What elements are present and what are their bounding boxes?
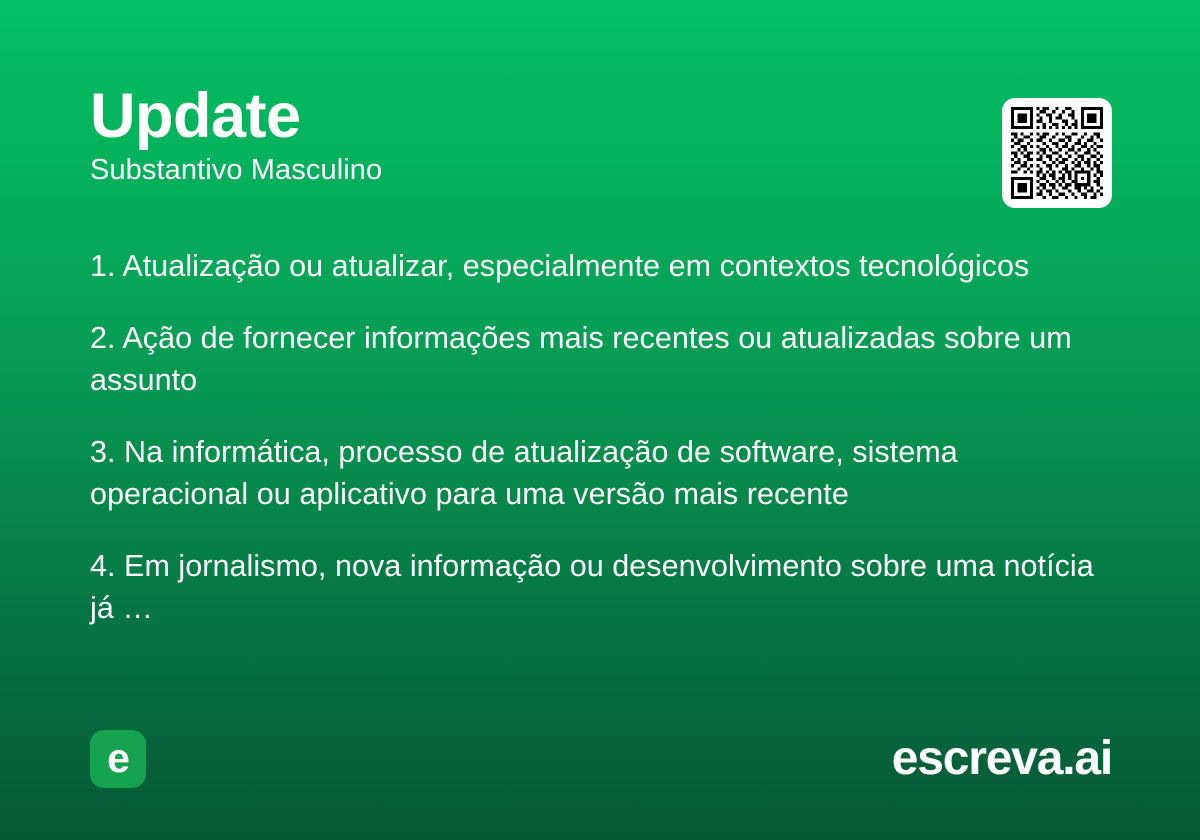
brand-wordmark: escreva.ai [892,735,1112,783]
definition-item: 2. Ação de fornecer informações mais rec… [90,318,1100,401]
escreva-logo-icon: e [90,730,146,788]
card-footer: e escreva.ai [90,730,1112,788]
definition-list: 1. Atualização ou atualizar, especialmen… [90,246,1100,629]
definition-item: 1. Atualização ou atualizar, especialmen… [90,246,1100,287]
qr-code-icon [1011,107,1103,199]
qr-code-panel[interactable] [1002,98,1112,208]
card-header: Update Substantivo Masculino [90,84,1110,187]
word-class-subtitle: Substantivo Masculino [90,154,1110,187]
definition-card: Update Substantivo Masculino [0,0,1200,840]
page-title: Update [90,84,1110,150]
logo-letter: e [107,738,129,779]
definition-item: 3. Na informática, processo de atualizaç… [90,432,1100,515]
definition-item: 4. Em jornalismo, nova informação ou des… [90,546,1100,629]
